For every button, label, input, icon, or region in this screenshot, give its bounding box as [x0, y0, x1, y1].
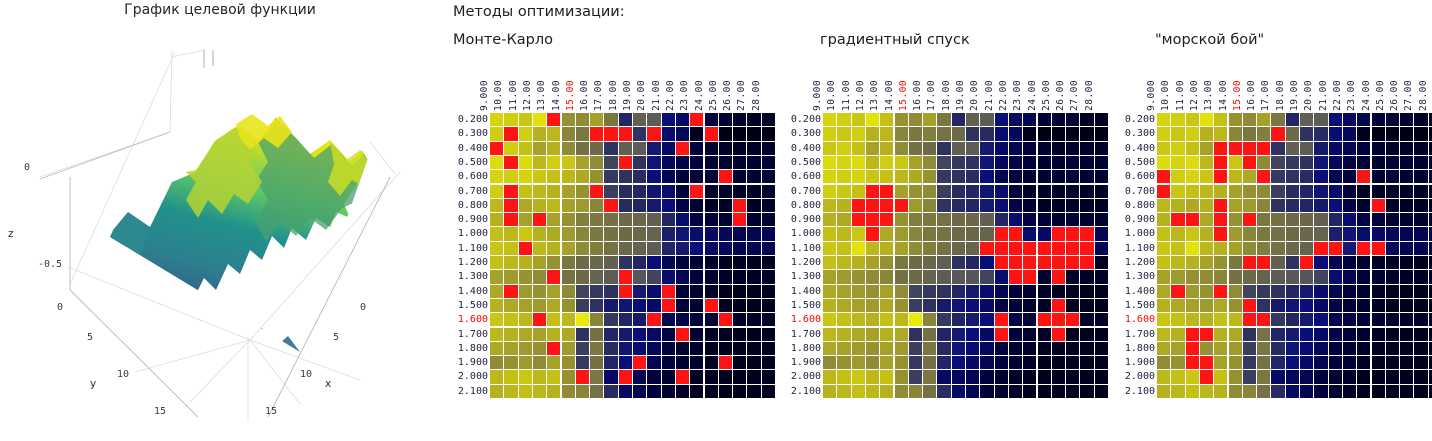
heatmap-cell: [1009, 385, 1022, 398]
heatmap-cell: [1286, 199, 1299, 212]
heatmap-cell: [533, 256, 546, 269]
heatmap-cell: [1286, 127, 1299, 140]
heatmap-cell: [1386, 356, 1399, 369]
heatmap-cell: [1286, 156, 1299, 169]
heatmap-cell: [937, 342, 950, 355]
heatmap-cell: [909, 385, 922, 398]
heatmap-cell: [1400, 342, 1413, 355]
heatmap-cell: [1052, 199, 1065, 212]
heatmap-cell: [1157, 242, 1170, 255]
heatmap-cell: [1095, 328, 1108, 341]
heatmap-cell: [1009, 356, 1022, 369]
heatmap-cell: [562, 170, 575, 183]
heatmap-cell: [676, 270, 689, 283]
heatmap-cell: [604, 342, 617, 355]
heatmap-cell: [895, 185, 908, 198]
heatmap-cell: [762, 313, 775, 326]
heatmap-cell: [1414, 156, 1427, 169]
heatmap-cell: [1372, 213, 1385, 226]
surface-plot-panel: График целевой функции: [0, 0, 440, 437]
heatmap-cell: [923, 113, 936, 126]
row-header: 1.800: [1125, 342, 1155, 356]
row-header: 1.700: [791, 328, 821, 342]
heatmap-cell: [1080, 270, 1093, 283]
row-header: 2.100: [1125, 385, 1155, 399]
heatmap-cell-marked: [719, 313, 732, 326]
heatmap-cell: [1171, 356, 1184, 369]
column-header: 12.00: [1189, 97, 1200, 111]
heatmap-cell-marked: [995, 256, 1008, 269]
heatmap-cell: [952, 270, 965, 283]
heatmap-cell: [1343, 270, 1356, 283]
heatmap-cell-marked: [676, 370, 689, 383]
heatmap-cell: [1314, 299, 1327, 312]
row-header: 0.900: [1125, 213, 1155, 227]
heatmap-cell: [1066, 385, 1079, 398]
heatmap-cell: [1066, 328, 1079, 341]
heatmap-cell: [1386, 113, 1399, 126]
heatmap-cell: [604, 385, 617, 398]
heatmap-cell: [1009, 199, 1022, 212]
heatmap-cell: [576, 127, 589, 140]
heatmap-cell: [880, 285, 893, 298]
heatmap-cell: [966, 328, 979, 341]
heatmap-cell: [1214, 342, 1227, 355]
heatmap-cell: [1300, 328, 1313, 341]
heatmap-cell: [1066, 199, 1079, 212]
heatmap-cell: [852, 256, 865, 269]
x-tick-5: 5: [333, 332, 339, 343]
heatmap-cell-marked: [676, 142, 689, 155]
row-header: 0.300: [1125, 127, 1155, 141]
heatmap-cell-marked: [533, 313, 546, 326]
heatmap-cell: [762, 385, 775, 398]
heatmap-cell-marked: [880, 213, 893, 226]
heatmap-cell: [1080, 142, 1093, 155]
heatmap-cell: [747, 127, 760, 140]
heatmap-cell: [705, 242, 718, 255]
heatmap-cell: [837, 127, 850, 140]
heatmap-cell: [1038, 185, 1051, 198]
heatmap-cell: [576, 213, 589, 226]
heatmap-cell: [909, 213, 922, 226]
row-header: 0.400: [791, 142, 821, 156]
heatmap-cell: [705, 199, 718, 212]
heatmap-cell: [823, 127, 836, 140]
heatmap-cell: [1271, 285, 1284, 298]
heatmap-cell: [1038, 385, 1051, 398]
heatmap-cell: [823, 113, 836, 126]
heatmap-cell: [733, 156, 746, 169]
heatmap-cell: [1200, 285, 1213, 298]
heatmap-cell: [1414, 385, 1427, 398]
heatmap-cell: [880, 328, 893, 341]
heatmap-cell: [633, 156, 646, 169]
row-header: 1.000: [791, 227, 821, 241]
y-tick-5: 5: [87, 332, 93, 343]
heatmap-cell: [1066, 127, 1079, 140]
heatmap-cell-marked: [866, 199, 879, 212]
heatmap-cell: [619, 356, 632, 369]
heatmap-cell: [1157, 342, 1170, 355]
heatmap-cell: [604, 227, 617, 240]
heatmap-cell: [1038, 170, 1051, 183]
heatmap-cell: [1171, 156, 1184, 169]
heatmap-cell: [1329, 113, 1342, 126]
heatmap-cell: [1286, 299, 1299, 312]
heatmap-cell: [547, 156, 560, 169]
heatmap-cell: [562, 142, 575, 155]
heatmap-cell: [1066, 342, 1079, 355]
heatmap-cell: [633, 113, 646, 126]
heatmap-cell: [1186, 127, 1199, 140]
heatmap-cell-marked: [995, 313, 1008, 326]
heatmap-cell: [1229, 342, 1242, 355]
heatmap-cell: [1095, 370, 1108, 383]
surface-svg: [0, 22, 440, 437]
heatmap-cell: [909, 313, 922, 326]
heatmap-cell: [980, 270, 993, 283]
heatmap-cell: [490, 113, 503, 126]
heatmap-cell: [576, 156, 589, 169]
heatmap-cell: [966, 256, 979, 269]
row-header: 0.200: [1125, 113, 1155, 127]
heatmap-cell: [980, 227, 993, 240]
column-header: 18.00: [941, 97, 952, 111]
heatmap-cell: [662, 370, 675, 383]
heatmap-cell: [662, 185, 675, 198]
heatmap-cell: [866, 285, 879, 298]
heatmap-cell: [923, 156, 936, 169]
heatmap-cell: [1186, 370, 1199, 383]
heatmap-cell: [719, 227, 732, 240]
heatmap-cell: [733, 227, 746, 240]
heatmap-cell: [547, 127, 560, 140]
heatmap-cell: [1157, 328, 1170, 341]
heatmap-cell: [1009, 156, 1022, 169]
heatmap-cell: [966, 356, 979, 369]
heatmap-cell: [762, 113, 775, 126]
heatmap-cell: [1271, 256, 1284, 269]
heatmap-cell: [937, 170, 950, 183]
heatmap-cell-marked: [866, 227, 879, 240]
heatmap-cell-marked: [604, 199, 617, 212]
heatmap-cell: [837, 270, 850, 283]
heatmap-cell: [895, 242, 908, 255]
heatmap-cell: [1357, 213, 1370, 226]
heatmap-cell: [676, 385, 689, 398]
heatmap-cell: [1229, 199, 1242, 212]
heatmap-cell: [895, 256, 908, 269]
heatmap-cell: [1400, 256, 1413, 269]
heatmap-cell: [1314, 313, 1327, 326]
heatmap-cell-marked: [733, 199, 746, 212]
heatmap-cell: [1257, 113, 1270, 126]
heatmap-cell: [1023, 313, 1036, 326]
heatmap-cell: [1009, 127, 1022, 140]
heatmap-cell: [1300, 185, 1313, 198]
heatmap-cell: [995, 385, 1008, 398]
heatmap-cell: [1271, 328, 1284, 341]
heatmap-cell: [1372, 113, 1385, 126]
heatmap-cell-marked: [866, 185, 879, 198]
heatmap-cell: [966, 199, 979, 212]
column-header: 24.00: [1361, 97, 1372, 111]
heatmap-cell: [1257, 356, 1270, 369]
heatmap-cell-marked: [1157, 170, 1170, 183]
heatmap-cell-marked: [995, 328, 1008, 341]
heatmap-cell: [647, 213, 660, 226]
heatmap-cell: [852, 242, 865, 255]
heatmap-cell: [1400, 127, 1413, 140]
heatmap-cell: [866, 370, 879, 383]
heatmap-cell: [504, 170, 517, 183]
heatmap-cell: [1400, 242, 1413, 255]
heatmap-cell: [576, 270, 589, 283]
heatmap-cell: [852, 127, 865, 140]
heatmap-cell: [966, 227, 979, 240]
heatmap-cell: [852, 170, 865, 183]
heatmap-cell: [995, 142, 1008, 155]
heatmap-cell: [923, 256, 936, 269]
heatmap-cell: [519, 328, 532, 341]
heatmap-cell: [519, 170, 532, 183]
heatmap-cell-marked: [1038, 256, 1051, 269]
heatmap-cell: [1386, 213, 1399, 226]
heatmap-cell: [966, 385, 979, 398]
heatmap-cell: [923, 213, 936, 226]
heatmap-cell: [705, 385, 718, 398]
heatmap-cell: [519, 156, 532, 169]
heatmap-cell: [1386, 285, 1399, 298]
heatmap-cell: [995, 156, 1008, 169]
heatmap-cell-marked: [719, 356, 732, 369]
heatmap-cell: [880, 313, 893, 326]
heatmap-cell: [676, 185, 689, 198]
column-header: 23.00: [679, 97, 690, 111]
heatmap-cell: [1066, 356, 1079, 369]
heatmap-cell-marked: [1200, 356, 1213, 369]
heatmap-cell: [937, 185, 950, 198]
heatmap-cell: [747, 256, 760, 269]
heatmap-cell: [1400, 385, 1413, 398]
heatmap-cell: [1386, 370, 1399, 383]
heatmap-cell: [1157, 285, 1170, 298]
heatmap-cell: [1066, 142, 1079, 155]
heatmap-cell-marked: [1171, 285, 1184, 298]
column-header: 18.00: [608, 97, 619, 111]
heatmap-cell: [1214, 385, 1227, 398]
heatmap-cell: [1243, 342, 1256, 355]
heatmap-cell: [705, 328, 718, 341]
heatmap-cell: [547, 370, 560, 383]
heatmap-cell: [852, 142, 865, 155]
heatmap-cell: [1329, 156, 1342, 169]
heatmap-cell: [1080, 185, 1093, 198]
heatmap-cell: [1257, 299, 1270, 312]
heatmap-cell: [747, 270, 760, 283]
heatmap-cell: [966, 285, 979, 298]
heatmap-cell: [676, 313, 689, 326]
heatmap-cell: [980, 328, 993, 341]
heatmap-cell: [562, 113, 575, 126]
z-axis-label: z: [8, 228, 14, 240]
heatmap-cell: [880, 370, 893, 383]
heatmap-cell: [1023, 227, 1036, 240]
column-header: 20.00: [1303, 97, 1314, 111]
heatmap-cell: [533, 185, 546, 198]
heatmap-cell: [604, 313, 617, 326]
heatmap-cell-marked: [504, 285, 517, 298]
heatmap-cell: [1372, 142, 1385, 155]
heatmap-cell: [1243, 285, 1256, 298]
heatmap-cell-marked: [1066, 242, 1079, 255]
heatmap-cell: [895, 127, 908, 140]
heatmap-cell: [576, 313, 589, 326]
heatmap-cell: [1329, 185, 1342, 198]
heatmap-cell-marked: [490, 142, 503, 155]
heatmap-cell: [966, 156, 979, 169]
heatmap-cell: [1095, 170, 1108, 183]
heatmap-cell-marked: [547, 342, 560, 355]
heatmap-cell: [1214, 370, 1227, 383]
row-header: 1.400: [458, 285, 488, 299]
heatmap-cell: [1157, 356, 1170, 369]
heatmap-cell-marked: [619, 270, 632, 283]
heatmap-cell: [1229, 370, 1242, 383]
heatmap-cell: [633, 313, 646, 326]
heatmap-cell: [1314, 213, 1327, 226]
heatmap-cell-marked: [995, 242, 1008, 255]
heatmap-cell: [1171, 370, 1184, 383]
heatmap-cell: [866, 328, 879, 341]
heatmap-cell: [490, 270, 503, 283]
heatmap-cell: [866, 127, 879, 140]
heatmap-cell: [1257, 342, 1270, 355]
heatmap-cell: [1157, 313, 1170, 326]
heatmap-cell: [866, 113, 879, 126]
heatmap-cell: [547, 299, 560, 312]
heatmap-cell: [923, 313, 936, 326]
heatmap-cell: [1271, 156, 1284, 169]
row-header: 1.000: [1125, 227, 1155, 241]
heatmap-cell: [533, 113, 546, 126]
heatmap-cell: [1357, 285, 1370, 298]
column-header: 15.00: [898, 97, 909, 111]
heatmap-cell: [762, 142, 775, 155]
heatmap-cell: [1314, 370, 1327, 383]
heatmap-cell: [662, 156, 675, 169]
heatmap-cell: [1343, 328, 1356, 341]
heatmap-cell-marked: [1023, 256, 1036, 269]
row-header: 0.400: [1125, 142, 1155, 156]
heatmap-cell: [1080, 370, 1093, 383]
heatmap-cell: [895, 370, 908, 383]
heatmap-cell: [705, 170, 718, 183]
column-header: 13.00: [869, 97, 880, 111]
heatmap-cell-marked: [705, 299, 718, 312]
heatmap-cell: [719, 270, 732, 283]
methods-heading: Методы оптимизации:: [453, 4, 625, 20]
column-header: 15.00: [565, 97, 576, 111]
heatmap-cell: [1300, 213, 1313, 226]
column-header: 25.00: [1041, 97, 1052, 111]
heatmap-cell: [547, 356, 560, 369]
heatmap-cell: [590, 285, 603, 298]
row-header: 1.800: [791, 342, 821, 356]
heatmap-cell-marked: [880, 185, 893, 198]
heatmap-cell: [504, 242, 517, 255]
heatmap-cell: [705, 356, 718, 369]
heatmap-cell: [895, 270, 908, 283]
column-header: 19.00: [1289, 97, 1300, 111]
heatmap-cell: [662, 313, 675, 326]
heatmap-cell: [533, 328, 546, 341]
heatmap-cell: [590, 213, 603, 226]
heatmap-cell: [690, 256, 703, 269]
heatmap-cell: [1066, 213, 1079, 226]
heatmap-cell: [1286, 342, 1299, 355]
heatmap-cell: [562, 185, 575, 198]
column-header: 12.00: [855, 97, 866, 111]
heatmap-cell: [647, 370, 660, 383]
heatmap-cell: [1229, 313, 1242, 326]
heatmap-cell: [1009, 170, 1022, 183]
heatmap-cell: [995, 270, 1008, 283]
heatmap-cell: [490, 227, 503, 240]
heatmap-cell: [519, 227, 532, 240]
heatmap-cell: [1200, 313, 1213, 326]
heatmap-cell: [1257, 242, 1270, 255]
heatmap-cell: [1200, 156, 1213, 169]
heatmap-cell: [1300, 270, 1313, 283]
heatmap-cell-marked: [576, 370, 589, 383]
column-header: 26.00: [1055, 97, 1066, 111]
heatmap-cell: [1023, 156, 1036, 169]
heatmap-cell: [1372, 299, 1385, 312]
heatmap-cell: [1080, 356, 1093, 369]
heatmap-cell: [1271, 142, 1284, 155]
heatmap-cell: [1038, 142, 1051, 155]
heatmap-cell: [952, 370, 965, 383]
heatmap-cell: [733, 185, 746, 198]
heatmap-cell: [633, 370, 646, 383]
heatmap-cell: [1414, 113, 1427, 126]
heatmap-cell: [852, 299, 865, 312]
heatmap-cell: [690, 285, 703, 298]
heatmap-cell: [676, 285, 689, 298]
heatmap-cell: [1286, 227, 1299, 240]
heatmap-cell: [1229, 227, 1242, 240]
heatmap-cell: [633, 270, 646, 283]
heatmap-cell: [647, 356, 660, 369]
y-tick-0: 0: [57, 302, 63, 313]
heatmap-cell: [676, 127, 689, 140]
heatmap-cell: [647, 256, 660, 269]
heatmap-cell: [590, 113, 603, 126]
heatmap-cell: [952, 356, 965, 369]
heatmap-cell: [866, 270, 879, 283]
heatmap-cell: [1314, 142, 1327, 155]
heatmap-cell: [1171, 256, 1184, 269]
row-header: 1.400: [1125, 285, 1155, 299]
heatmap-cell: [1157, 227, 1170, 240]
row-header: 0.800: [791, 199, 821, 213]
heatmap-cell: [647, 270, 660, 283]
heatmap-cell-marked: [1052, 328, 1065, 341]
heatmap-cell-marked: [1052, 313, 1065, 326]
heatmap-cell: [1023, 370, 1036, 383]
